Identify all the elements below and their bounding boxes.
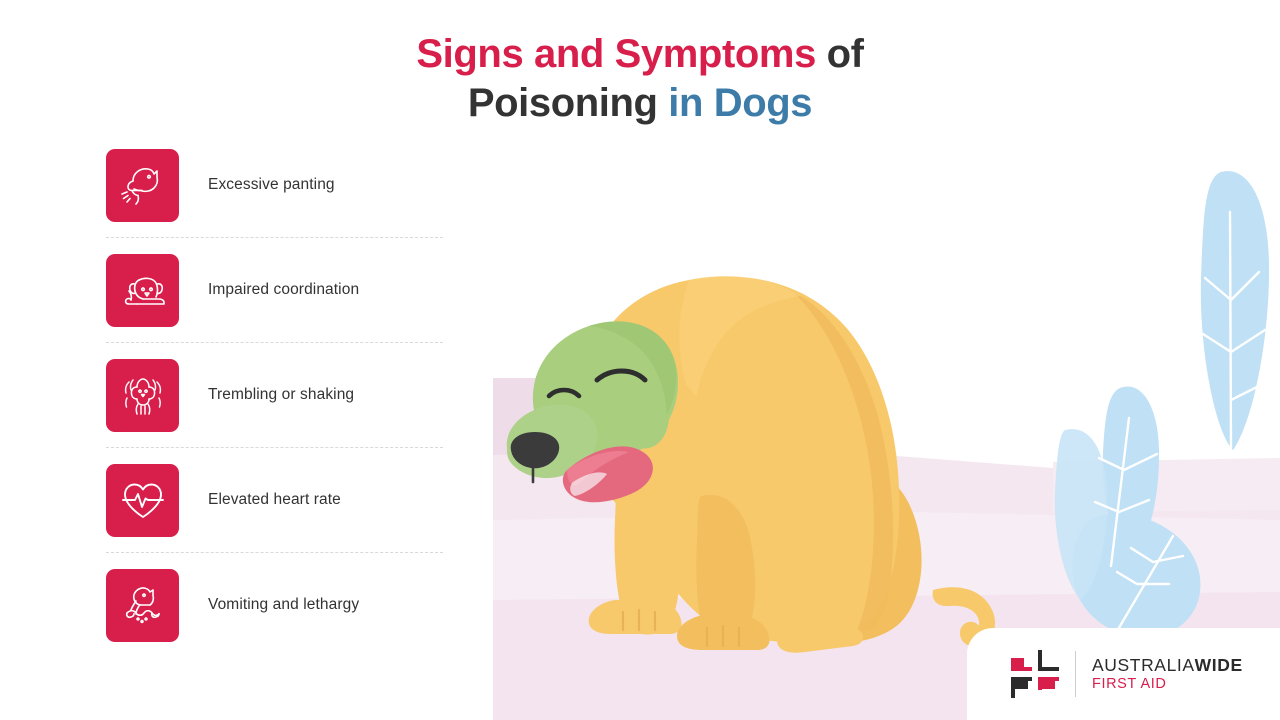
australia-wide-cross-mark xyxy=(1009,648,1061,700)
list-item-label: Trembling or shaking xyxy=(208,386,354,404)
list-item-label: Elevated heart rate xyxy=(208,491,341,509)
logo-name-australia: AUSTRALIA xyxy=(1092,655,1195,675)
heart-pulse-icon xyxy=(106,464,179,537)
logo-wordmark: AUSTRALIAWIDE FIRST AID xyxy=(1092,655,1243,694)
logo-name-wide: WIDE xyxy=(1195,655,1243,675)
dog-panting-icon xyxy=(106,149,179,222)
list-item[interactable]: Impaired coordination xyxy=(106,238,446,342)
list-item[interactable]: Trembling or shaking xyxy=(106,343,446,447)
dog-trembling-icon xyxy=(106,359,179,432)
logo-tagline: FIRST AID xyxy=(1092,675,1243,693)
list-item-label: Vomiting and lethargy xyxy=(208,596,359,614)
list-item[interactable]: Excessive panting xyxy=(106,133,446,237)
symptom-list: Excessive panting Impaired coordination xyxy=(106,133,446,657)
australia-wide-logo: AUSTRALIAWIDE FIRST AID xyxy=(967,628,1280,720)
list-item-label: Excessive panting xyxy=(208,176,335,194)
dog-lying-icon xyxy=(106,254,179,327)
dog-vomiting-icon xyxy=(106,569,179,642)
sick-dog-illustration xyxy=(493,0,1280,720)
list-item[interactable]: Elevated heart rate xyxy=(106,448,446,552)
logo-divider xyxy=(1075,651,1076,697)
list-item-label: Impaired coordination xyxy=(208,281,359,299)
logo-name: AUSTRALIAWIDE xyxy=(1092,655,1243,676)
list-item[interactable]: Vomiting and lethargy xyxy=(106,553,446,657)
